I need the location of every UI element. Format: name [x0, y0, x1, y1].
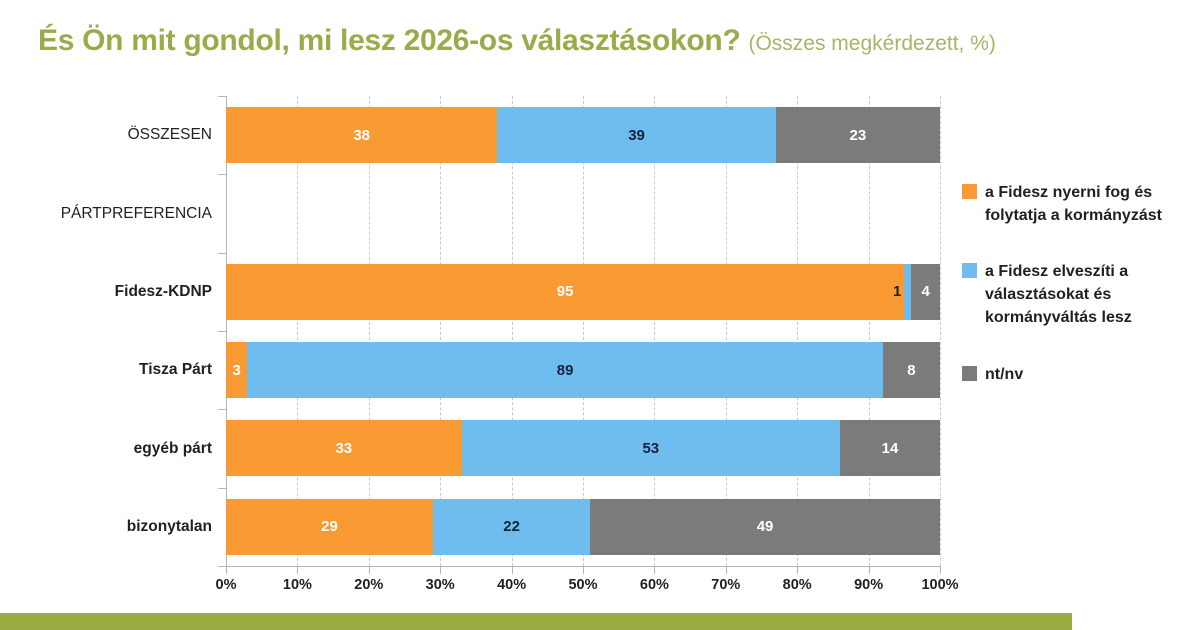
bar-segment-orange[interactable]: 95 — [226, 264, 904, 320]
bar-value-label: 95 — [557, 284, 574, 299]
y-axis-category-3: Fidesz-KDNP — [12, 284, 212, 300]
bar-value-label: 8 — [907, 363, 915, 378]
x-axis-tick-label: 60% — [640, 577, 669, 593]
chart-legend: a Fidesz nyerni fog és folytatja a kormá… — [962, 182, 1192, 420]
x-axis-tick-label: 100% — [921, 577, 958, 593]
bar-value-label: 23 — [850, 128, 867, 143]
x-axis-tick-label: 10% — [283, 577, 312, 593]
x-axis-tick-label: 30% — [426, 577, 455, 593]
chart-row: 335314 — [226, 409, 940, 487]
y-axis-tick — [218, 96, 226, 97]
bar-segment-blue[interactable]: 1 — [904, 264, 911, 320]
legend-item-2[interactable]: a Fidesz elveszíti a választásokat és ko… — [962, 261, 1192, 329]
x-axis-tick-label: 40% — [497, 577, 526, 593]
x-axis-tick — [654, 567, 655, 574]
bar-value-label: 3 — [233, 363, 241, 378]
stacked-bar: 3898 — [226, 342, 940, 398]
y-axis-category-2: PÁRTPREFERENCIA — [12, 206, 212, 222]
bar-segment-blue[interactable]: 39 — [497, 107, 775, 163]
x-axis-tick — [583, 567, 584, 574]
x-axis-tick — [869, 567, 870, 574]
x-axis-tick-label: 20% — [354, 577, 383, 593]
bar-value-label: 4 — [922, 284, 930, 299]
y-axis-category-1: ÖSSZESEN — [12, 127, 212, 143]
bar-segment-orange[interactable]: 33 — [226, 420, 462, 476]
stacked-bar: 335314 — [226, 420, 940, 476]
bar-value-label: 29 — [321, 519, 338, 534]
x-axis-tick-label: 90% — [854, 577, 883, 593]
legend-label: nt/nv — [985, 364, 1023, 387]
y-axis-category-5: egyéb párt — [12, 441, 212, 457]
x-axis-tick — [940, 567, 941, 574]
bar-segment-gray[interactable]: 8 — [883, 342, 940, 398]
x-axis-tick — [440, 567, 441, 574]
bar-segment-blue[interactable]: 22 — [433, 499, 590, 555]
x-axis-tick — [297, 567, 298, 574]
bottom-accent-bar — [0, 613, 1072, 630]
y-axis-tick — [218, 566, 226, 567]
legend-swatch-gray — [962, 366, 977, 381]
x-axis-tick — [726, 567, 727, 574]
bar-segment-blue[interactable]: 53 — [462, 420, 840, 476]
x-axis-tick-label: 70% — [711, 577, 740, 593]
bar-value-label: 38 — [353, 128, 370, 143]
y-axis-tick — [218, 174, 226, 175]
bar-value-label: 33 — [335, 441, 352, 456]
y-axis-category-labels: ÖSSZESENPÁRTPREFERENCIAFidesz-KDNPTisza … — [0, 96, 212, 566]
bar-segment-gray[interactable]: 23 — [776, 107, 940, 163]
chart-row: 3898 — [226, 331, 940, 409]
chart-title: És Ön mit gondol, mi lesz 2026-os válasz… — [38, 24, 740, 57]
bar-value-label: 39 — [628, 128, 645, 143]
bar-value-label: 22 — [503, 519, 520, 534]
x-axis-tick-label: 0% — [216, 577, 237, 593]
bar-segment-orange[interactable]: 38 — [226, 107, 497, 163]
bar-value-label: 53 — [642, 441, 659, 456]
plot-area: 38392395143898335314292249 — [226, 96, 940, 566]
bar-segment-gray[interactable]: 4 — [911, 264, 940, 320]
x-axis-tick-label: 80% — [783, 577, 812, 593]
y-axis-tick — [218, 488, 226, 489]
gridline — [940, 96, 941, 566]
legend-swatch-blue — [962, 263, 977, 278]
stacked-bar: 9514 — [226, 264, 940, 320]
bar-segment-gray[interactable]: 49 — [590, 499, 940, 555]
bar-value-label: 89 — [557, 363, 574, 378]
chart-row: 383923 — [226, 96, 940, 174]
y-axis-tick — [218, 331, 226, 332]
bar-value-label: 1 — [893, 284, 901, 299]
bar-segment-gray[interactable]: 14 — [840, 420, 940, 476]
chart-row: 292249 — [226, 488, 940, 566]
stacked-bar: 383923 — [226, 107, 940, 163]
bar-segment-orange[interactable]: 3 — [226, 342, 247, 398]
chart-subtitle: (Összes megkérdezett, %) — [748, 32, 995, 55]
legend-label: a Fidesz nyerni fog és folytatja a kormá… — [985, 182, 1192, 227]
stacked-bar: 292249 — [226, 499, 940, 555]
x-axis-tick — [797, 567, 798, 574]
chart-row: 9514 — [226, 253, 940, 331]
x-axis-tick — [512, 567, 513, 574]
x-axis-tick — [369, 567, 370, 574]
x-axis-tick-label: 50% — [568, 577, 597, 593]
bar-segment-blue[interactable]: 89 — [247, 342, 882, 398]
legend-item-3[interactable]: nt/nv — [962, 364, 1192, 387]
y-axis-category-4: Tisza Párt — [12, 362, 212, 378]
bar-value-label: 14 — [882, 441, 899, 456]
y-axis-tick — [218, 409, 226, 410]
bar-value-label: 49 — [757, 519, 774, 534]
legend-item-1[interactable]: a Fidesz nyerni fog és folytatja a kormá… — [962, 182, 1192, 227]
x-axis-tick — [226, 567, 227, 574]
bar-segment-orange[interactable]: 29 — [226, 499, 433, 555]
y-axis-tick — [218, 253, 226, 254]
page-title: És Ön mit gondol, mi lesz 2026-os válasz… — [38, 24, 1178, 72]
y-axis-category-6: bizonytalan — [12, 519, 212, 535]
legend-swatch-orange — [962, 184, 977, 199]
legend-label: a Fidesz elveszíti a választásokat és ko… — [985, 261, 1192, 329]
